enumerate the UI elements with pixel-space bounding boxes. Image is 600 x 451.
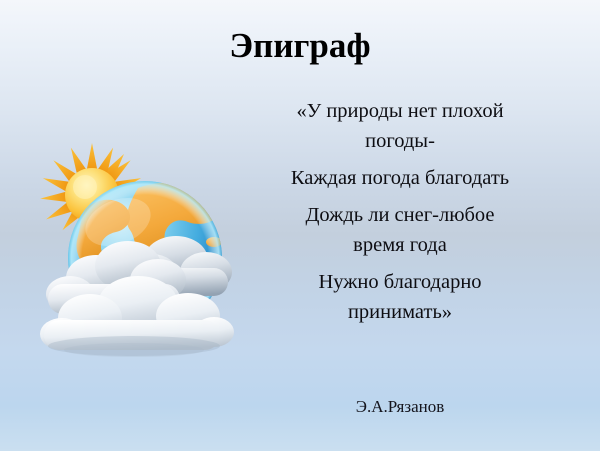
sun-globe-clouds-illustration [18, 138, 243, 363]
quote-line: принимать» [250, 297, 550, 327]
slide-canvas: Эпиграф «У природы нет плохой погоды- Ка… [0, 0, 600, 451]
quote-line: «У природы нет плохой [250, 96, 550, 126]
quote-line: погоды- [250, 126, 550, 156]
epigraph-quote: «У природы нет плохой погоды- Каждая пог… [250, 96, 550, 327]
quote-line: Дождь ли снег-любое [250, 200, 550, 230]
page-title: Эпиграф [0, 26, 600, 66]
quote-line: время года [250, 230, 550, 260]
quote-attribution: Э.А.Рязанов [250, 396, 550, 418]
quote-line: Нужно благодарно [250, 267, 550, 297]
quote-line: Каждая погода благодать [250, 163, 550, 193]
